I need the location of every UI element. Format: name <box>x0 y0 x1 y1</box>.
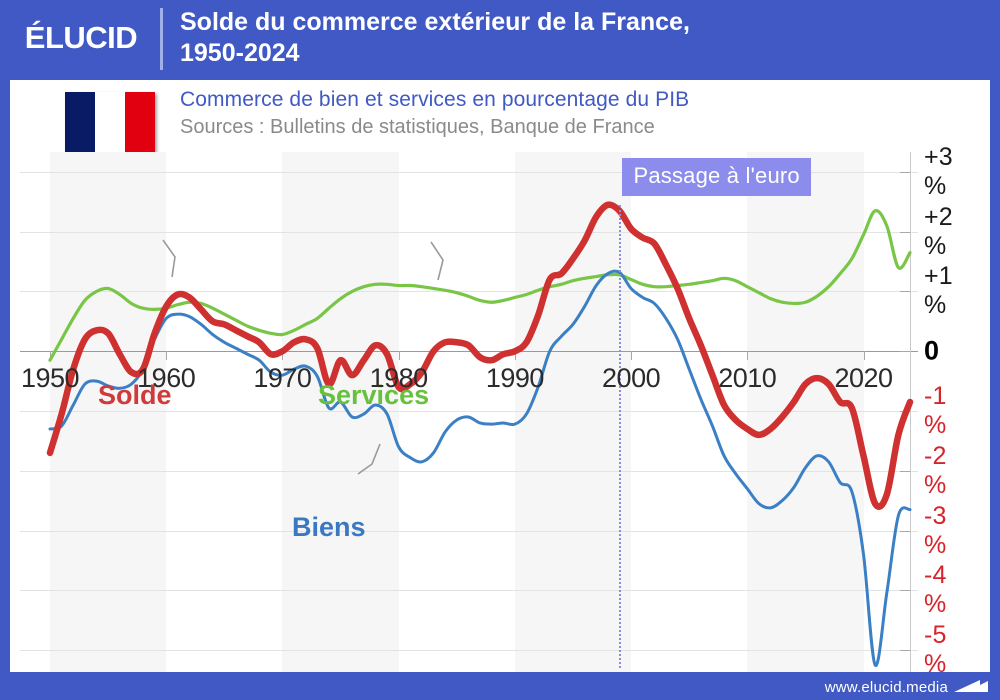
footer-bar: www.elucid.media <box>0 672 1000 700</box>
y-axis-label: +3 % <box>924 143 953 201</box>
euro-annotation-box: Passage à l'euro <box>622 158 810 196</box>
chart-card: Commerce de bien et services en pourcent… <box>10 80 990 672</box>
chart-subtitle: Commerce de bien et services en pourcent… <box>180 88 689 112</box>
header-divider <box>160 8 163 70</box>
watermark-text: www.elucid.media <box>825 679 948 696</box>
page-title-line1: Solde du commerce extérieur de la France… <box>180 7 980 38</box>
header-bar: ÉLUCID Solde du commerce extérieur de la… <box>0 0 1000 78</box>
euro-vertical-line <box>619 205 621 668</box>
y-axis-label: -1 % <box>924 382 947 440</box>
page-title-line2: 1950-2024 <box>180 38 980 69</box>
y-axis-label: 0 <box>924 336 939 367</box>
series-line-solde <box>50 205 910 507</box>
series-line-biens <box>50 271 910 665</box>
y-axis-label: -5 % <box>924 621 947 679</box>
swoosh-arrow-icon <box>954 678 988 694</box>
plot-area: Passage à l'euro Solde Services Biens 19… <box>20 152 918 677</box>
y-axis-label: +1 % <box>924 262 953 320</box>
x-axis-label: 1980 <box>370 363 428 394</box>
series-line-services <box>50 211 910 361</box>
y-axis-label: -4 % <box>924 561 947 619</box>
series-canvas <box>20 152 918 677</box>
elucid-logo: ÉLUCID <box>10 14 152 62</box>
chart-sources: Sources : Bulletins de statistiques, Ban… <box>180 116 655 139</box>
x-axis-label: 2020 <box>834 363 892 394</box>
x-axis-label: 2010 <box>718 363 776 394</box>
x-axis-label: 1960 <box>137 363 195 394</box>
chart-page: ÉLUCID Solde du commerce extérieur de la… <box>0 0 1000 700</box>
y-axis-label: +2 % <box>924 203 953 261</box>
y-axis-label: -2 % <box>924 442 947 500</box>
x-axis-label: 1990 <box>486 363 544 394</box>
page-title: Solde du commerce extérieur de la France… <box>180 7 980 69</box>
x-axis-label: 1950 <box>21 363 79 394</box>
x-axis-label: 2000 <box>602 363 660 394</box>
x-axis-label: 1970 <box>253 363 311 394</box>
y-axis-label: -3 % <box>924 502 947 560</box>
series-label-biens: Biens <box>292 512 366 543</box>
french-flag-icon <box>65 92 155 152</box>
